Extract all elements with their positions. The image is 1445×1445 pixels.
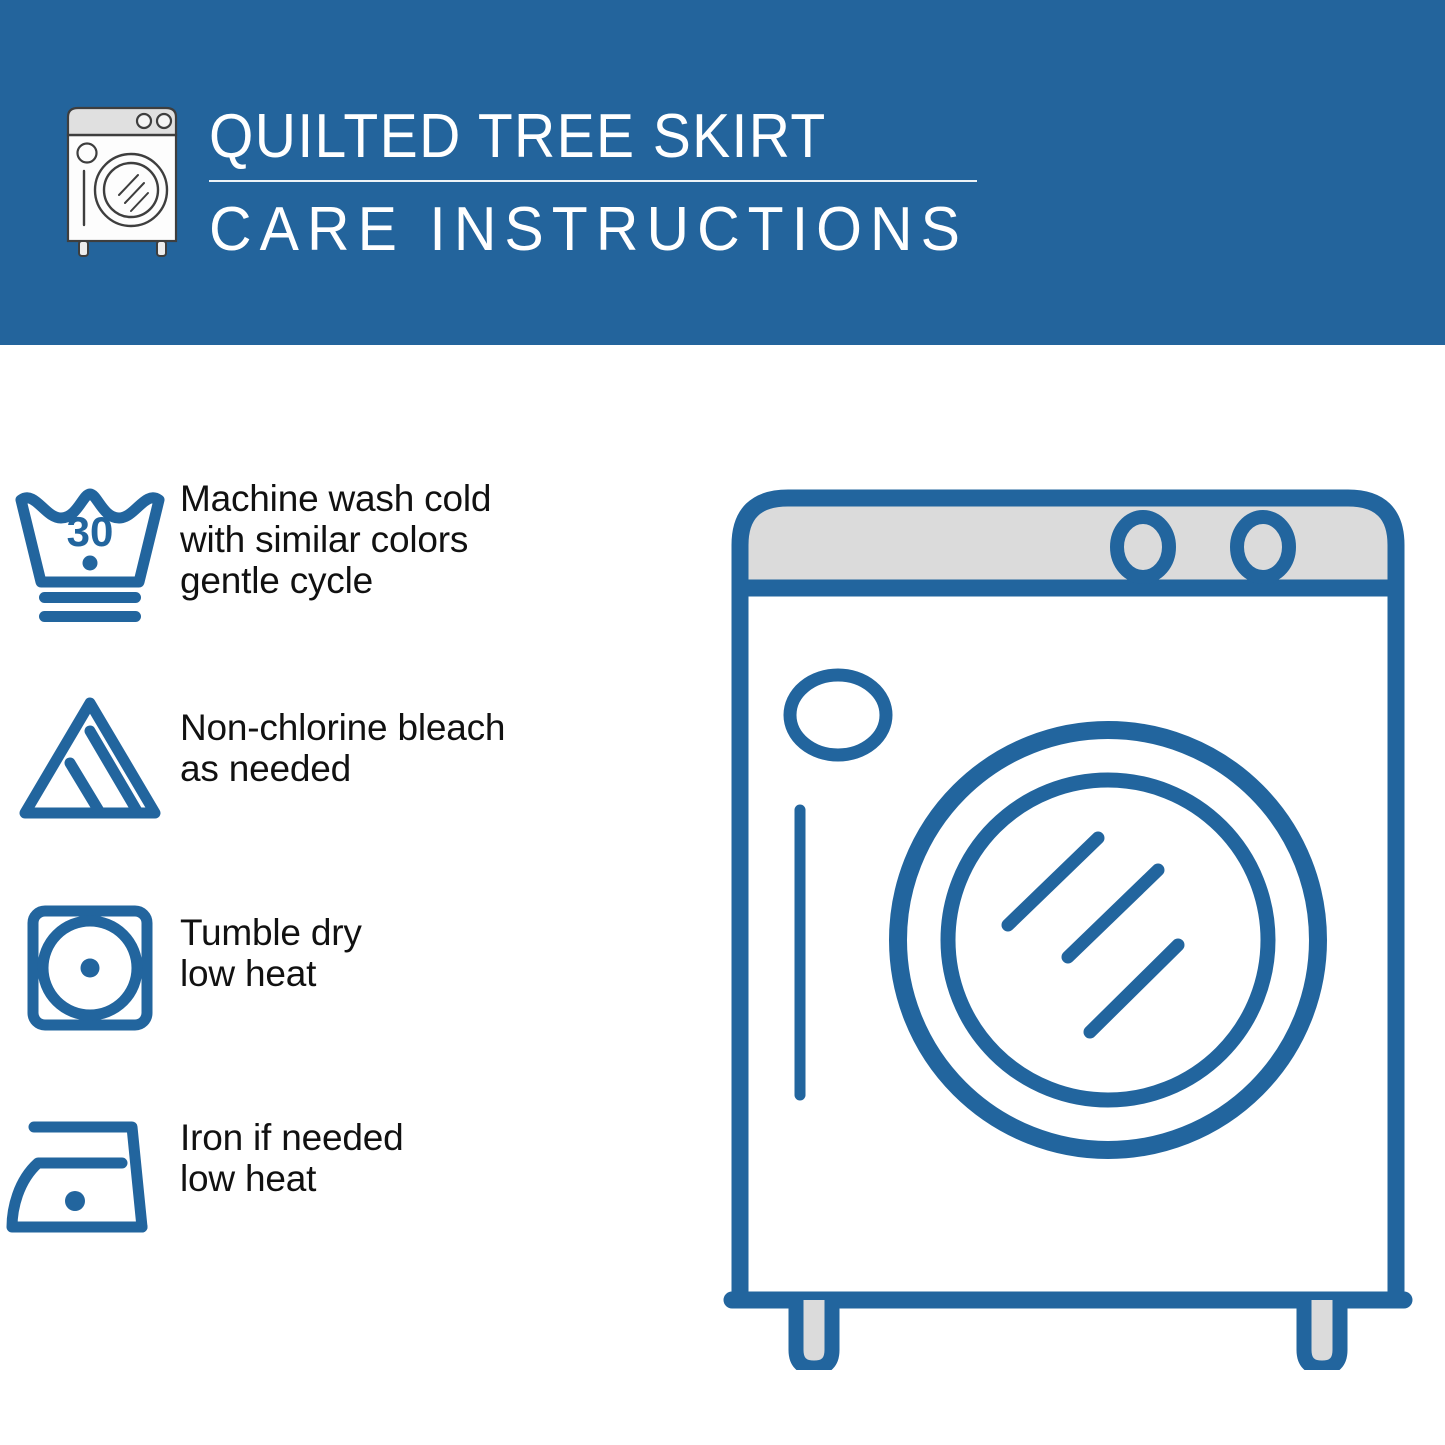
- care-row-bleach: Non-chlorine bleach as needed: [0, 675, 700, 880]
- care-row-iron: Iron if needed low heat: [0, 1085, 700, 1290]
- washing-machine-illustration: [718, 470, 1418, 1370]
- header-banner: QUILTED TREE SKIRT CARE INSTRUCTIONS: [0, 0, 1445, 345]
- care-instructions-page: QUILTED TREE SKIRT CARE INSTRUCTIONS 30: [0, 0, 1445, 1445]
- machine-leg-left: [796, 1300, 832, 1368]
- care-line: gentle cycle: [180, 560, 491, 601]
- care-text-bleach: Non-chlorine bleach as needed: [180, 675, 505, 789]
- care-row-machine-wash: 30 Machine wash cold with similar colors…: [0, 470, 700, 675]
- care-row-tumble-dry: Tumble dry low heat: [0, 880, 700, 1085]
- title-divider-rule: [209, 180, 977, 182]
- page-subtitle: CARE INSTRUCTIONS: [209, 195, 960, 265]
- iron-low-heat-icon: [0, 1085, 180, 1260]
- care-line: Tumble dry: [180, 912, 362, 953]
- care-line: low heat: [180, 1158, 403, 1199]
- care-text-iron: Iron if needed low heat: [180, 1085, 403, 1199]
- care-line: Non-chlorine bleach: [180, 707, 505, 748]
- care-instruction-list: 30 Machine wash cold with similar colors…: [0, 470, 700, 1290]
- care-line: Machine wash cold: [180, 478, 491, 519]
- header-washing-machine-logo-icon: [62, 103, 184, 258]
- non-chlorine-bleach-triangle-icon: [0, 675, 180, 850]
- care-line: as needed: [180, 748, 505, 789]
- machine-leg-right: [1304, 1300, 1340, 1368]
- care-text-tumble-dry: Tumble dry low heat: [180, 880, 362, 994]
- care-line: with similar colors: [180, 519, 491, 560]
- care-line: low heat: [180, 953, 362, 994]
- tumble-dry-low-icon: [0, 880, 180, 1055]
- page-title: QUILTED TREE SKIRT: [209, 104, 936, 170]
- wash-tub-30-gentle-icon: 30: [0, 470, 180, 645]
- wash-temperature-label: 30: [67, 508, 114, 555]
- machine-top-panel: [740, 498, 1396, 588]
- care-line: Iron if needed: [180, 1117, 403, 1158]
- header-title-block: QUILTED TREE SKIRT CARE INSTRUCTIONS: [209, 104, 999, 265]
- machine-body: [740, 588, 1396, 1300]
- care-text-machine-wash: Machine wash cold with similar colors ge…: [180, 470, 491, 601]
